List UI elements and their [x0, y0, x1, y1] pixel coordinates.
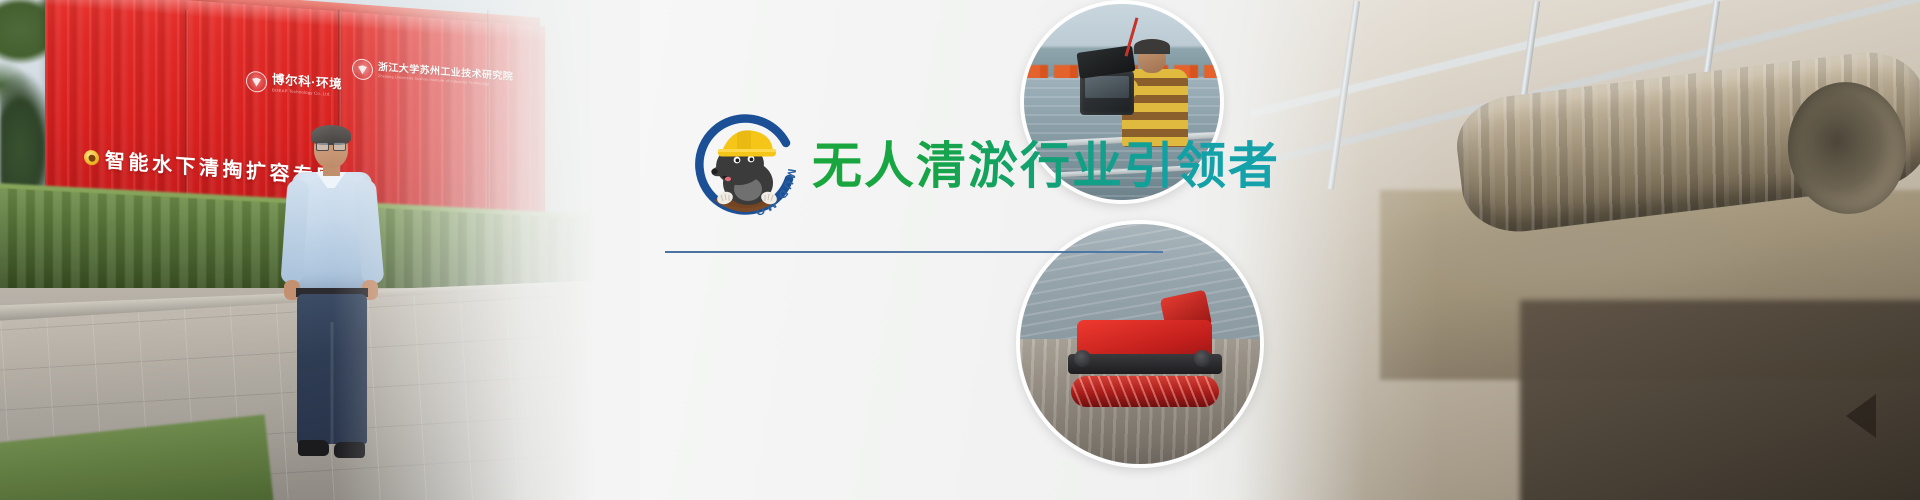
headline: 无人清淤行业引领者 — [812, 126, 1280, 198]
person-glasses-icon — [316, 142, 346, 149]
company-seal-icon — [246, 70, 267, 93]
person-shoe-left — [298, 440, 329, 456]
person-trousers — [297, 294, 367, 444]
person-standing — [278, 128, 388, 500]
institute-seal-icon — [352, 58, 373, 81]
right-photo — [1190, 0, 1920, 500]
arrow-shape — [1846, 394, 1876, 438]
container-seam — [487, 10, 490, 234]
mud-mole-logo: MUD MOLE — [685, 103, 807, 225]
center-branding: MUD MOLE — [660, 0, 1180, 500]
person-shoe-right — [334, 442, 365, 458]
divider-line — [665, 251, 1163, 253]
slogan-bullet-icon — [84, 150, 99, 166]
promo-banner: 博尔科·环境 BOEAP Technology Co.,Ltd. 浙江大学苏州工… — [0, 0, 1920, 500]
left-photo: 博尔科·环境 BOEAP Technology Co.,Ltd. 浙江大学苏州工… — [0, 0, 640, 500]
